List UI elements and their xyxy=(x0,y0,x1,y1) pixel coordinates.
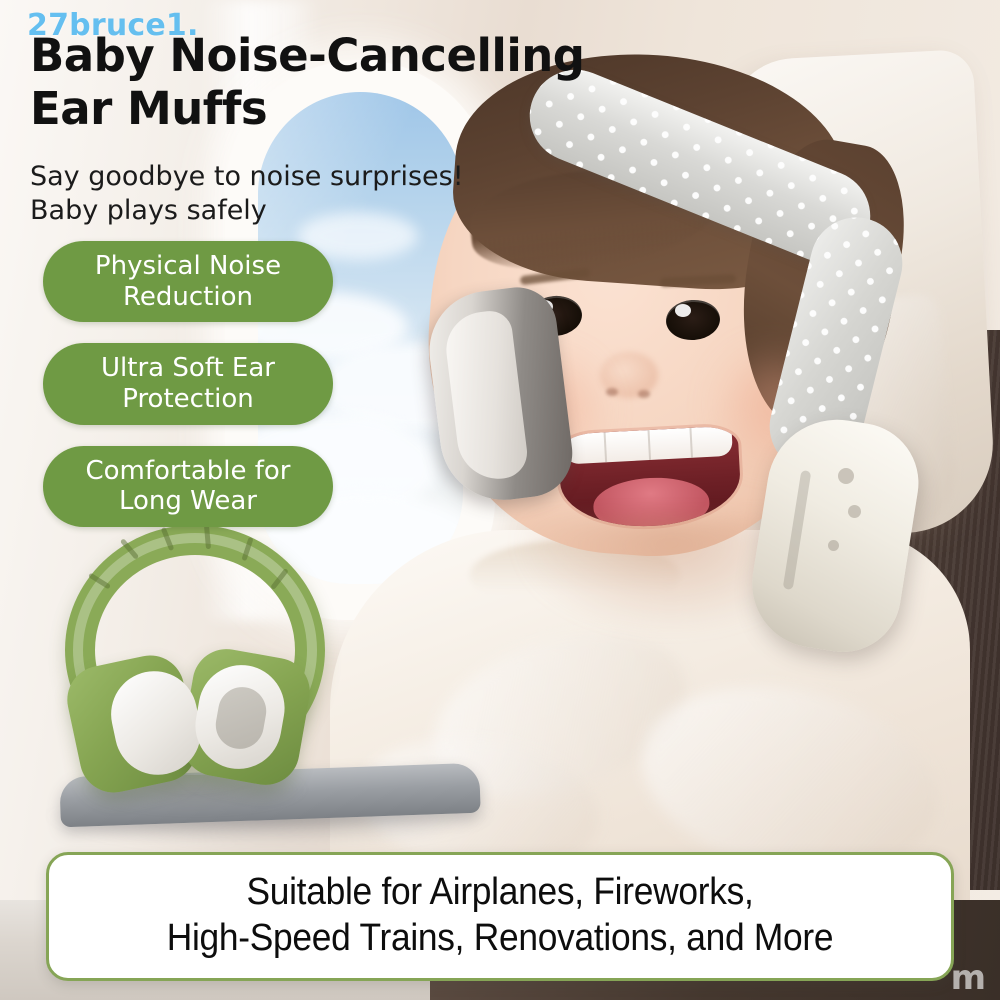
tooth-gap xyxy=(604,432,608,462)
caption-line-1: Suitable for Airplanes, Fireworks, xyxy=(90,869,910,915)
tooth-gap xyxy=(689,428,693,458)
page-title: Baby Noise-Cancelling Ear Muffs xyxy=(30,30,680,135)
tooth-gap xyxy=(647,430,651,460)
earmuff-vent-hole xyxy=(848,505,861,518)
subtitle-line-2: Baby plays safely xyxy=(30,194,550,228)
headline-line-1: Baby Noise-Cancelling xyxy=(30,30,680,83)
earmuff-vent-hole xyxy=(838,468,854,484)
watermark-bottom-right: m xyxy=(951,958,986,998)
caption-line-2: High-Speed Trains, Renovations, and More xyxy=(90,915,910,961)
product-earmuffs-green xyxy=(55,525,335,815)
feature-badge-ultra-soft-ear-protection: Ultra Soft Ear Protection xyxy=(43,343,333,424)
earmuff-vent-hole xyxy=(828,540,839,551)
baby-nostril xyxy=(606,388,618,396)
feature-badge-physical-noise-reduction: Physical Noise Reduction xyxy=(43,241,333,322)
feature-badge-comfortable-for-long-wear: Comfortable for Long Wear xyxy=(43,446,333,527)
headline-line-2: Ear Muffs xyxy=(30,83,680,136)
eye-highlight xyxy=(675,304,691,317)
usage-caption-banner: Suitable for Airplanes, Fireworks, High-… xyxy=(46,852,954,981)
product-advertisement: 27bruce1. Baby Noise-Cancelling Ear Muff… xyxy=(0,0,1000,1000)
baby-nostril xyxy=(638,390,650,398)
subtitle: Say goodbye to noise surprises! Baby pla… xyxy=(30,160,550,229)
feature-badge-list: Physical Noise Reduction Ultra Soft Ear … xyxy=(43,241,333,548)
subtitle-line-1: Say goodbye to noise surprises! xyxy=(30,160,550,194)
